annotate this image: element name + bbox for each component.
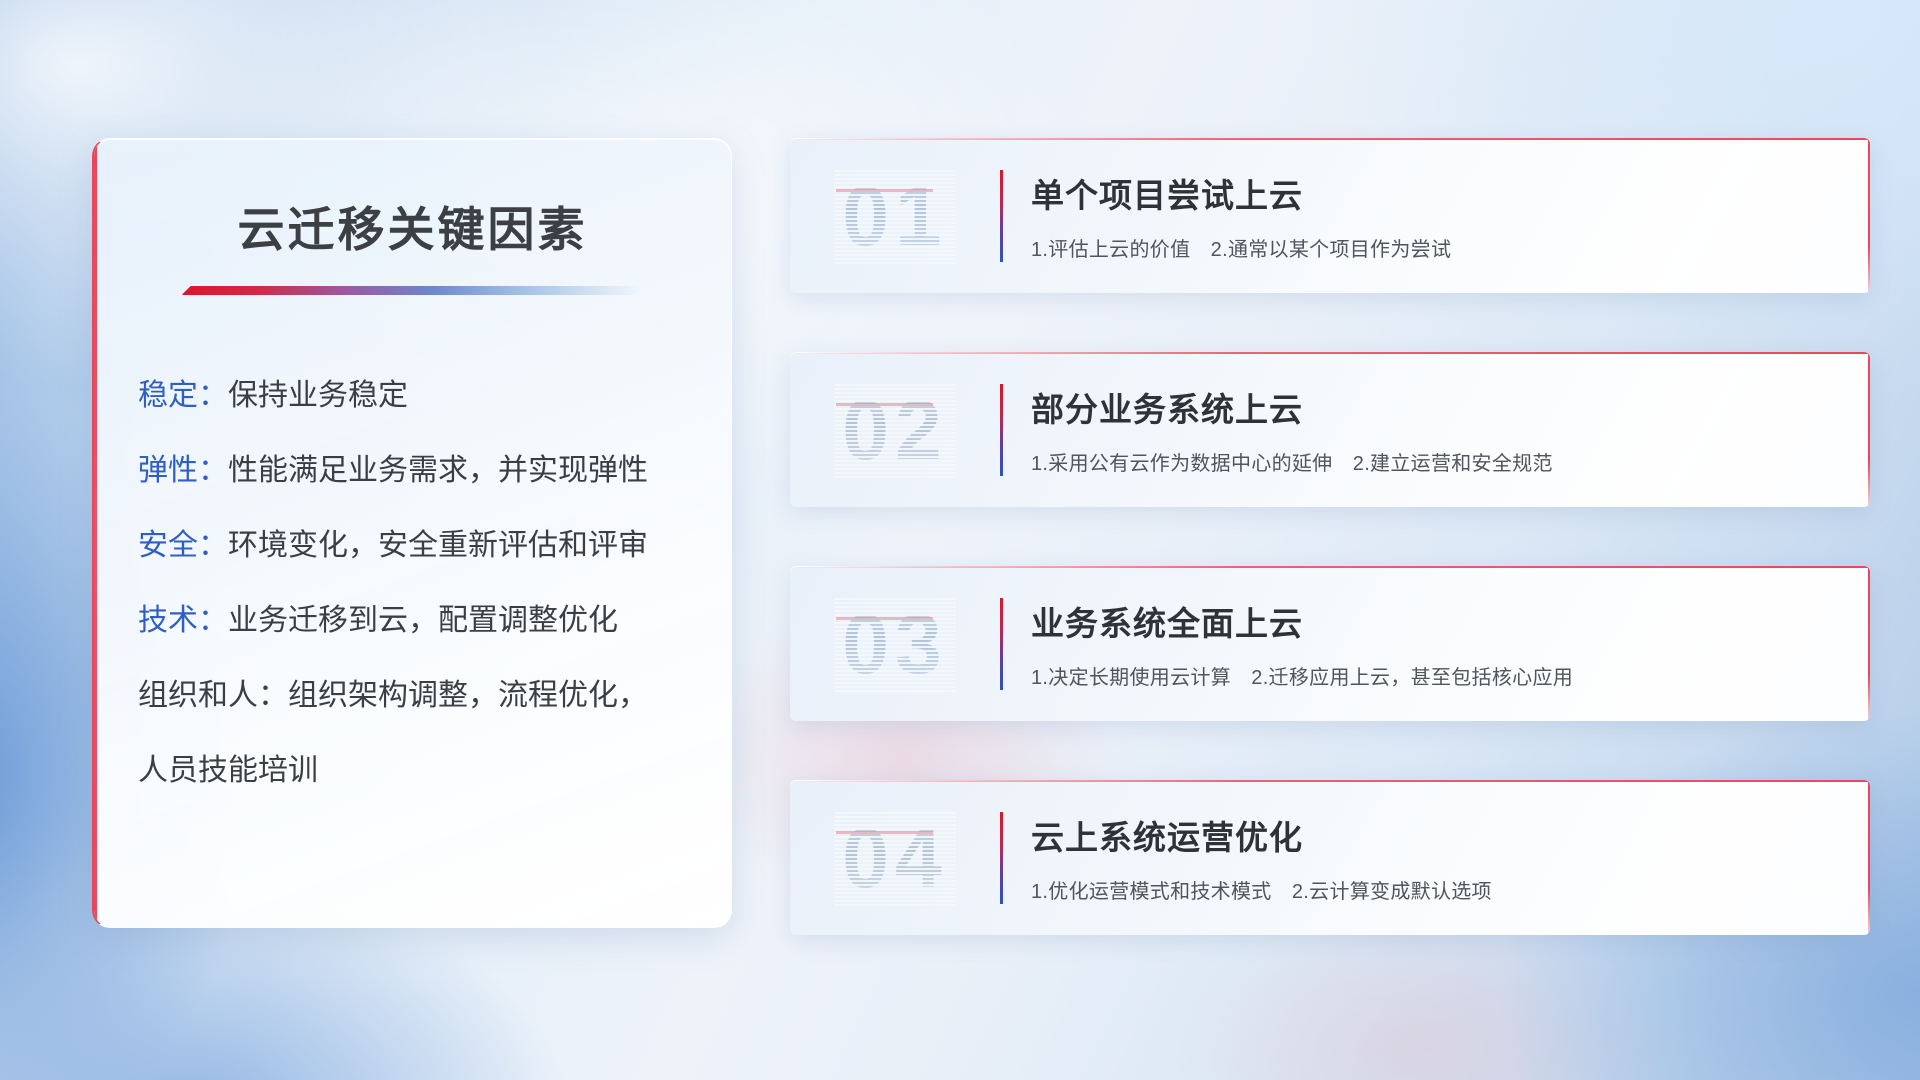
stage-card[interactable]: 01单个项目尝试上云1.评估上云的价值 2.通常以某个项目作为尝试 xyxy=(790,138,1870,293)
factor-label: 安全： xyxy=(138,529,228,562)
factor-value: 性能满足业务需求，并实现弹性 xyxy=(228,454,648,487)
stage-number: 02 xyxy=(842,388,947,472)
factor-label: 组织和人： xyxy=(138,679,288,712)
stage-card-list: 01单个项目尝试上云1.评估上云的价值 2.通常以某个项目作为尝试02部分业务系… xyxy=(790,138,1870,935)
factor-label: 技术： xyxy=(138,604,228,637)
factor-row: 技术：业务迁移到云，配置调整优化 xyxy=(138,606,731,636)
factor-value: 环境变化，安全重新评估和评审 xyxy=(228,529,648,562)
stage-number-glitch-overlay: 04 xyxy=(842,816,947,900)
factor-row: 弹性：性能满足业务需求，并实现弹性 xyxy=(138,456,731,486)
stage-description: 1.优化运营模式和技术模式 2.云计算变成默认选项 xyxy=(1031,875,1836,904)
stage-title: 业务系统全面上云 xyxy=(1031,597,1836,645)
accent-bar xyxy=(1000,170,1003,262)
factor-value: 人员技能培训 xyxy=(138,754,318,787)
stage-number-block: 02 xyxy=(790,388,1000,472)
stage-title: 单个项目尝试上云 xyxy=(1031,169,1836,217)
stage-number: 04 xyxy=(842,816,947,900)
stage-title: 部分业务系统上云 xyxy=(1031,383,1836,431)
stage-description: 1.采用公有云作为数据中心的延伸 2.建立运营和安全规范 xyxy=(1031,447,1836,476)
stage-number-block: 03 xyxy=(790,602,1000,686)
stage-card[interactable]: 04云上系统运营优化1.优化运营模式和技术模式 2.云计算变成默认选项 xyxy=(790,780,1870,935)
stage-card-body: 业务系统全面上云1.决定长期使用云计算 2.迁移应用上云，甚至包括核心应用 xyxy=(1031,597,1870,690)
accent-bar xyxy=(1000,598,1003,690)
factor-list: 稳定：保持业务稳定弹性：性能满足业务需求，并实现弹性安全：环境变化，安全重新评估… xyxy=(94,381,731,786)
title-underline-gradient xyxy=(182,286,644,295)
stage-number-block: 01 xyxy=(790,174,1000,258)
stage-description: 1.评估上云的价值 2.通常以某个项目作为尝试 xyxy=(1031,233,1836,262)
stage-number-glitch-overlay: 03 xyxy=(842,602,947,686)
page-title: 云迁移关键因素 xyxy=(94,191,731,260)
stage-description: 1.决定长期使用云计算 2.迁移应用上云，甚至包括核心应用 xyxy=(1031,661,1836,690)
factor-value: 组织架构调整，流程优化， xyxy=(288,679,648,712)
stage-card-body: 单个项目尝试上云1.评估上云的价值 2.通常以某个项目作为尝试 xyxy=(1031,169,1870,262)
stage-card[interactable]: 02部分业务系统上云1.采用公有云作为数据中心的延伸 2.建立运营和安全规范 xyxy=(790,352,1870,507)
stage-card[interactable]: 03业务系统全面上云1.决定长期使用云计算 2.迁移应用上云，甚至包括核心应用 xyxy=(790,566,1870,721)
factor-value: 业务迁移到云，配置调整优化 xyxy=(228,604,618,637)
accent-bar xyxy=(1000,812,1003,904)
stage-number-glitch-overlay: 01 xyxy=(842,174,947,258)
stage-number-glitch-overlay: 02 xyxy=(842,388,947,472)
stage-title: 云上系统运营优化 xyxy=(1031,811,1836,859)
key-factors-panel: 云迁移关键因素 稳定：保持业务稳定弹性：性能满足业务需求，并实现弹性安全：环境变… xyxy=(92,138,732,928)
factor-label: 弹性： xyxy=(138,454,228,487)
factor-row: 稳定：保持业务稳定 xyxy=(138,381,731,411)
factor-value: 保持业务稳定 xyxy=(228,379,408,412)
factor-label: 稳定： xyxy=(138,379,228,412)
stage-number: 01 xyxy=(842,174,947,258)
stage-number-block: 04 xyxy=(790,816,1000,900)
stage-card-body: 部分业务系统上云1.采用公有云作为数据中心的延伸 2.建立运营和安全规范 xyxy=(1031,383,1870,476)
factor-row: 安全：环境变化，安全重新评估和评审 xyxy=(138,531,731,561)
stage-card-body: 云上系统运营优化1.优化运营模式和技术模式 2.云计算变成默认选项 xyxy=(1031,811,1870,904)
accent-bar xyxy=(1000,384,1003,476)
factor-row: 人员技能培训 xyxy=(138,756,731,786)
factor-row: 组织和人：组织架构调整，流程优化， xyxy=(138,681,731,711)
stage-number: 03 xyxy=(842,602,947,686)
